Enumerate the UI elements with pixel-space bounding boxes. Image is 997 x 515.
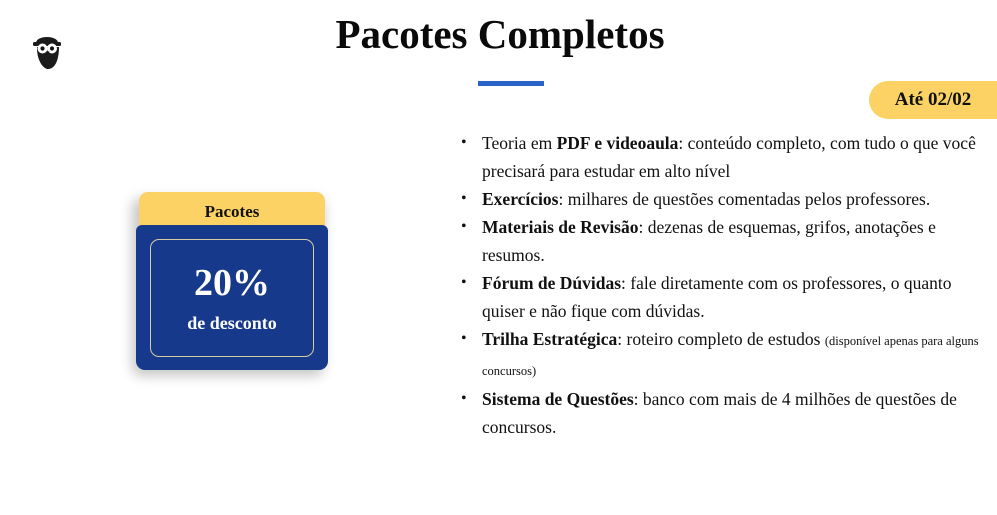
discount-card: Pacotes 20% de desconto <box>136 192 328 370</box>
feature-list-item: •Teoria em PDF e videoaula: conteúdo com… <box>455 129 980 185</box>
bullet-marker-icon: • <box>461 213 471 241</box>
feature-description-text: : roteiro completo de estudos <box>617 329 825 349</box>
feature-list-item: •Materiais de Revisão: dezenas de esquem… <box>455 213 980 269</box>
feature-title-text: Sistema de Questões <box>482 389 634 409</box>
feature-description-text: : milhares de questões comentadas pelos … <box>558 189 930 209</box>
bullet-marker-icon: • <box>461 129 471 157</box>
feature-list-item: •Exercícios: milhares de questões coment… <box>455 185 980 213</box>
deadline-badge: Até 02/02 <box>869 81 997 119</box>
feature-title-text: Trilha Estratégica <box>482 329 617 349</box>
discount-card-body: 20% de desconto <box>136 225 328 370</box>
features-list: •Teoria em PDF e videoaula: conteúdo com… <box>455 129 980 441</box>
feature-list-item: •Trilha Estratégica: roteiro completo de… <box>455 325 980 385</box>
feature-list-item: •Sistema de Questões: banco com mais de … <box>455 385 980 441</box>
discount-percent-value: 20% <box>194 263 270 303</box>
discount-card-header-label: Pacotes <box>205 202 260 222</box>
feature-title-text: Fórum de Dúvidas <box>482 273 621 293</box>
bullet-marker-icon: • <box>461 385 471 413</box>
discount-card-inner-frame: 20% de desconto <box>150 239 314 357</box>
feature-title-text: Materiais de Revisão <box>482 217 639 237</box>
feature-title-text: PDF e videoaula <box>557 133 679 153</box>
deadline-badge-label: Até 02/02 <box>895 89 972 111</box>
bullet-marker-icon: • <box>461 185 471 213</box>
feature-title-text: Exercícios <box>482 189 558 209</box>
bullet-marker-icon: • <box>461 325 471 353</box>
bullet-marker-icon: • <box>461 269 471 297</box>
owl-logo-icon <box>31 30 63 70</box>
discount-subtitle: de desconto <box>187 313 277 333</box>
title-underline-rule <box>478 81 544 86</box>
feature-list-item: •Fórum de Dúvidas: fale diretamente com … <box>455 269 980 325</box>
feature-lead-text: Teoria em <box>482 133 557 153</box>
page-title: Pacotes Completos <box>160 8 840 60</box>
slide-canvas: Pacotes Completos Até 02/02 Pacotes 20% … <box>0 0 997 515</box>
